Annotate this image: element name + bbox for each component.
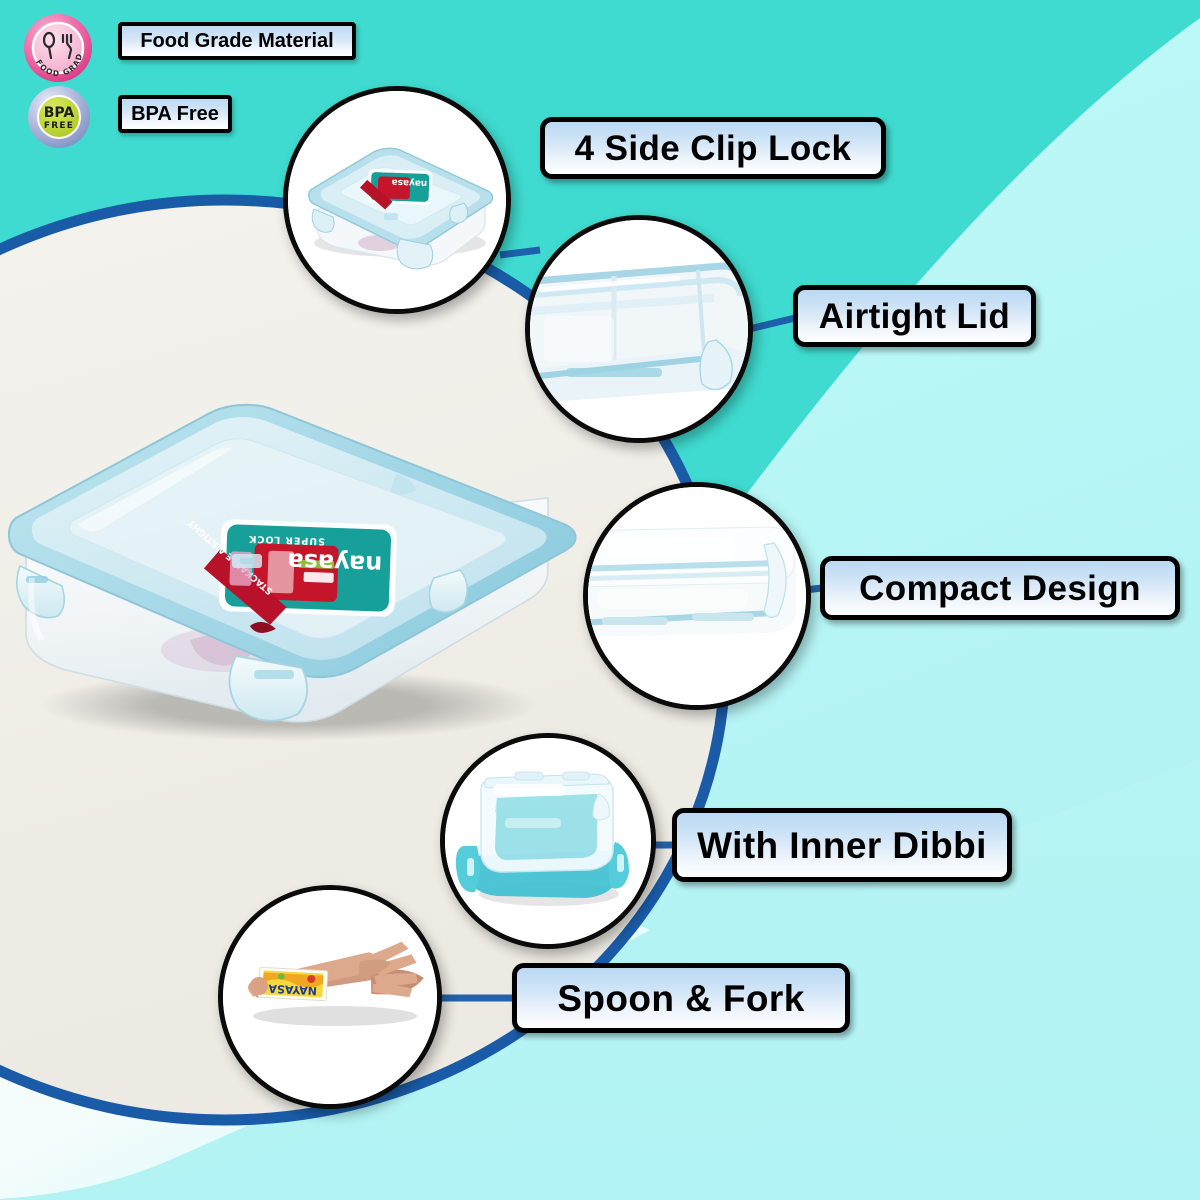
photo-lid-seal-closeup	[525, 215, 753, 443]
infographic-canvas: FOOD GRADE Food Grade Material BPA	[0, 0, 1200, 1200]
svg-text:nayasa: nayasa	[391, 177, 427, 188]
free-text: FREE	[44, 121, 74, 131]
bpa-free-badge-icon: BPA FREE	[26, 84, 92, 150]
photo-spoon-fork: NAYASA	[218, 885, 442, 1109]
hero-container-photo: nayasa SUPER LOCK STACKABLE AIRTIGHT	[8, 378, 588, 738]
photo-compact-profile	[583, 482, 811, 710]
food-grade-badge-icon: FOOD GRADE	[22, 12, 94, 84]
food-grade-material-label: Food Grade Material	[118, 22, 356, 60]
feature-label-airtight-lid: Airtight Lid	[793, 285, 1036, 347]
photo-full-container: nayasa	[283, 86, 511, 314]
bpa-text: BPA	[44, 105, 75, 121]
sticker-brand: nayasa	[287, 547, 383, 578]
photo-inner-dibbi	[440, 733, 656, 949]
feature-label-spoon-fork: Spoon & Fork	[512, 963, 850, 1033]
cutlery-band-brand: NAYASA	[268, 982, 318, 998]
feature-label-clip-lock: 4 Side Clip Lock	[540, 117, 886, 179]
bpa-free-text: BPA Free	[131, 103, 219, 126]
feature-label-compact-design: Compact Design	[820, 556, 1180, 620]
food-grade-material-text: Food Grade Material	[140, 30, 333, 53]
feature-label-inner-dibbi: With Inner Dibbi	[672, 808, 1012, 882]
bpa-free-label: BPA Free	[118, 95, 232, 133]
